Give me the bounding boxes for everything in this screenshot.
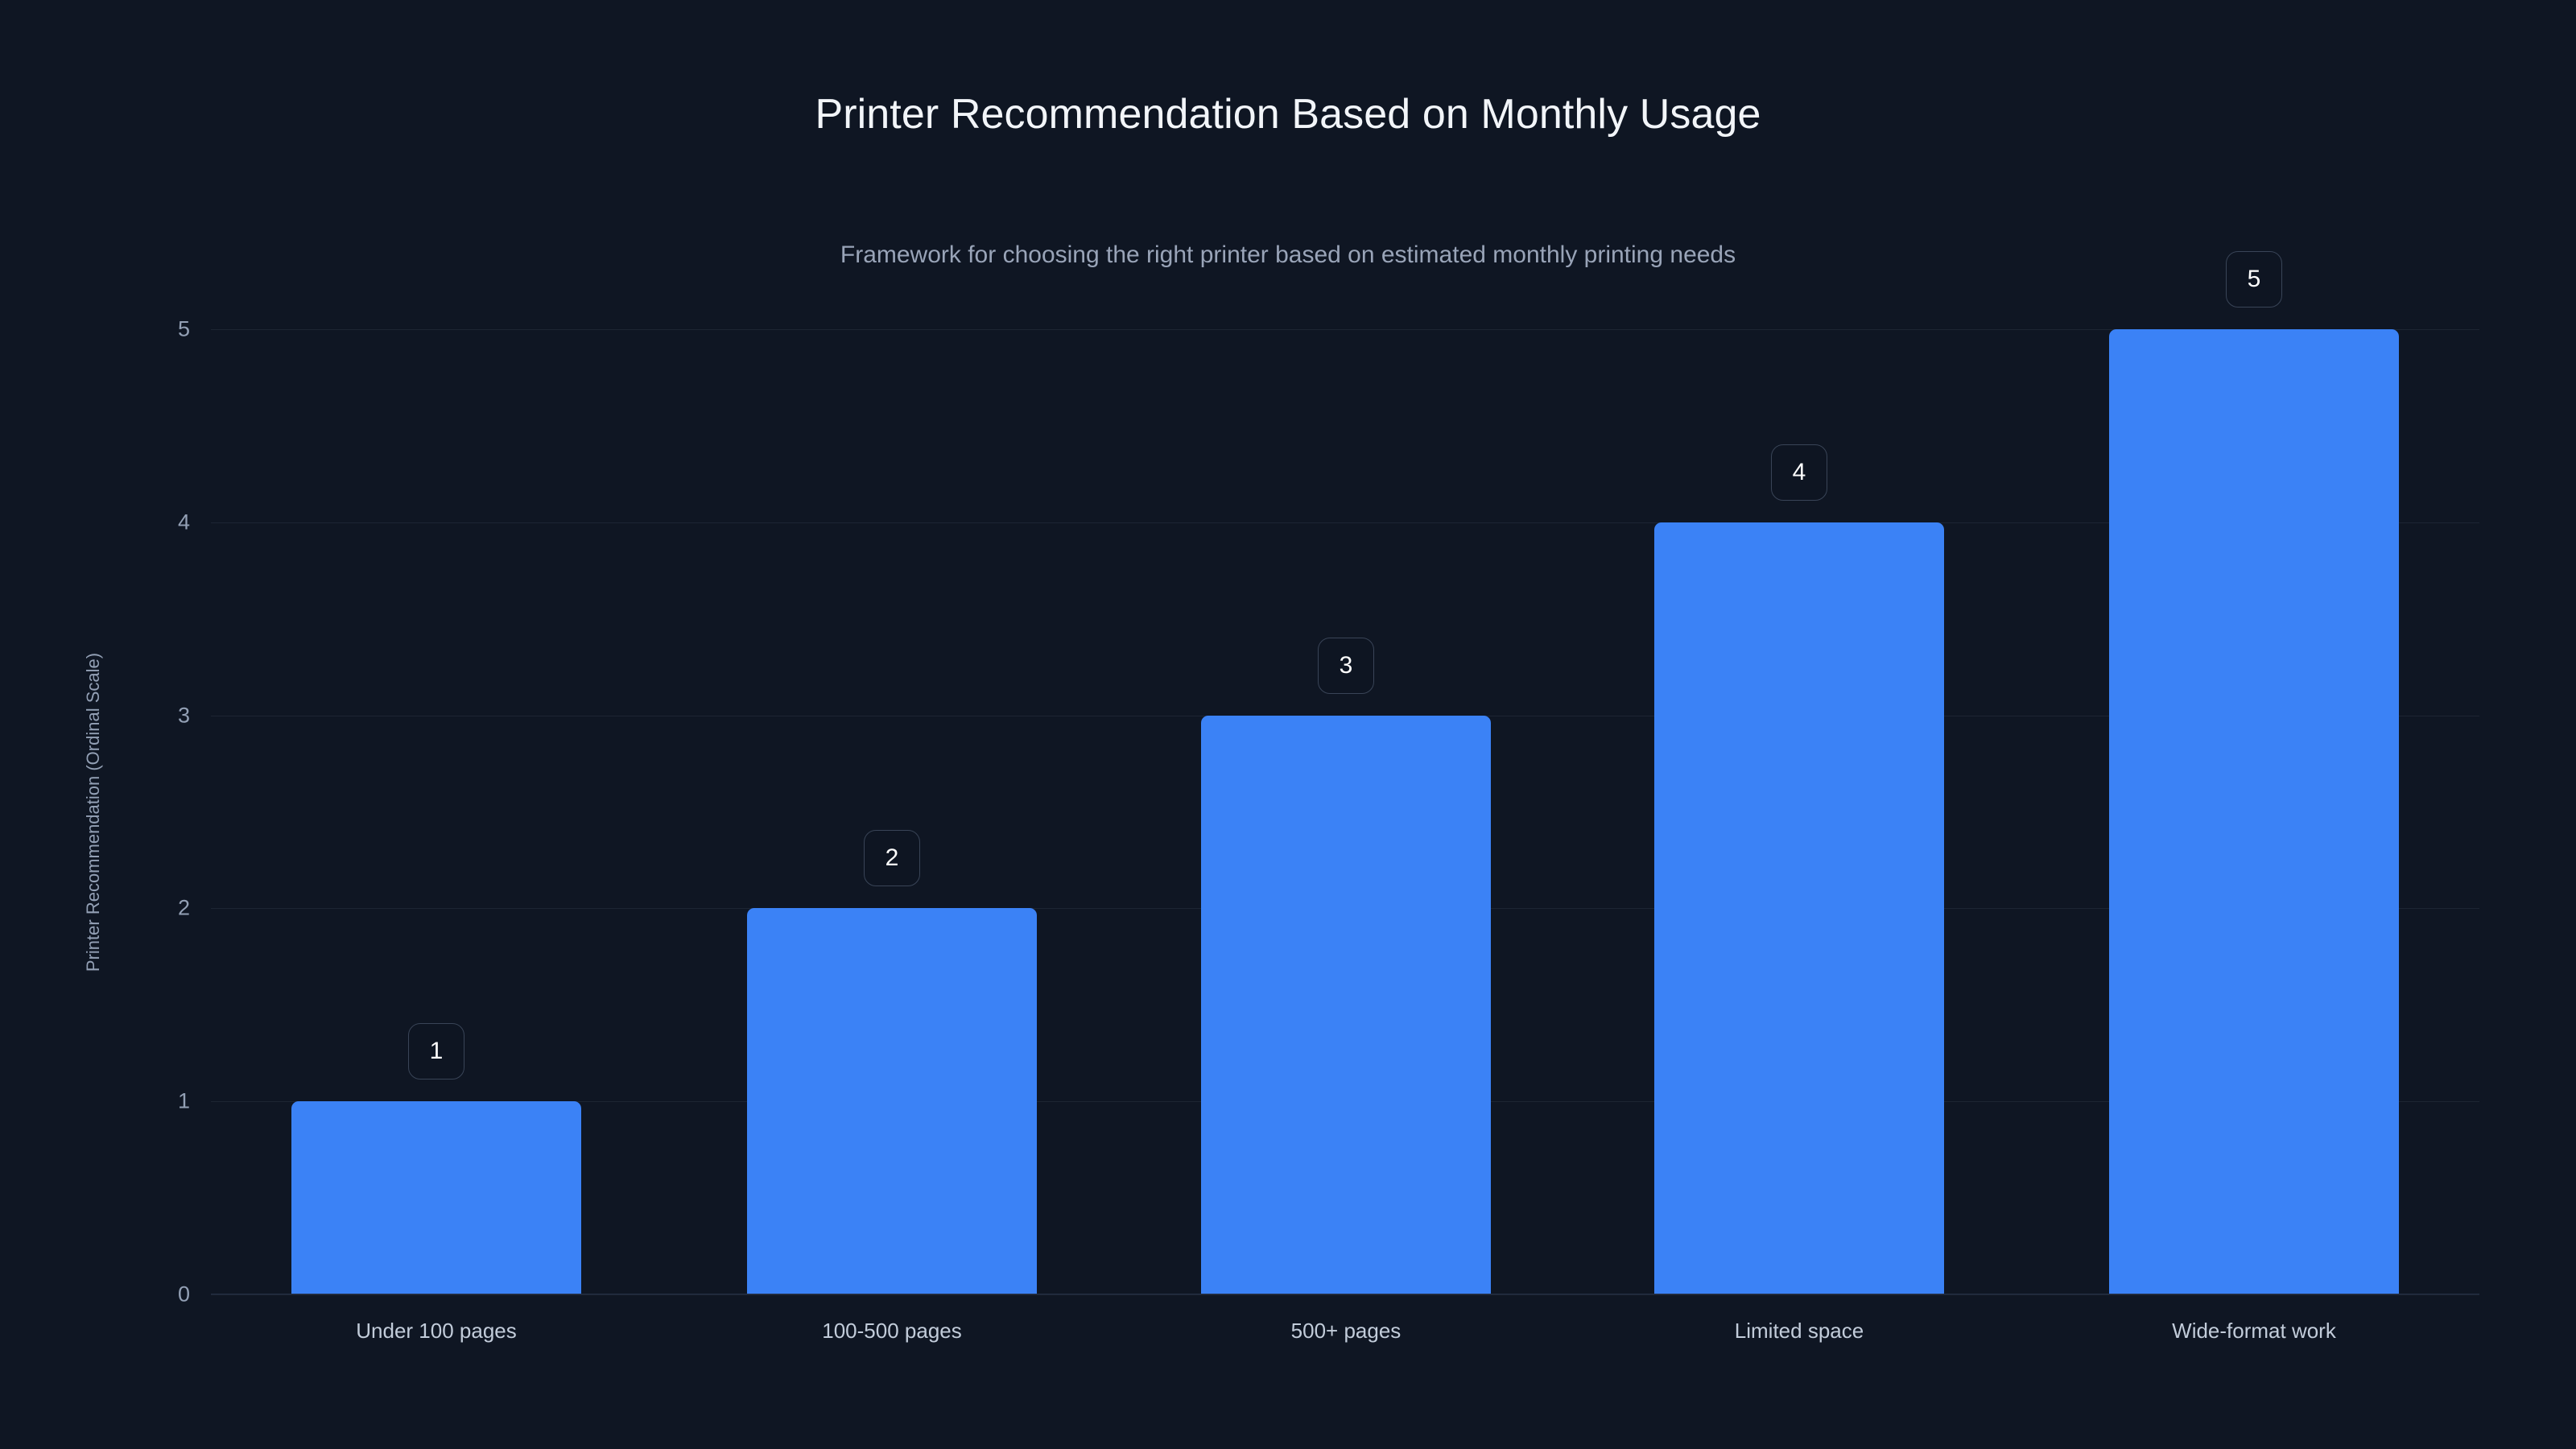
x-axis-category-label: 500+ pages xyxy=(1291,1319,1402,1344)
chart-title: Printer Recommendation Based on Monthly … xyxy=(0,90,2576,138)
x-axis-line xyxy=(211,1294,2479,1294)
bar-value-badge: 5 xyxy=(2226,251,2282,308)
bar[interactable] xyxy=(1201,716,1491,1294)
y-axis-tick-label: 2 xyxy=(134,896,190,921)
x-axis-category-label: Under 100 pages xyxy=(356,1319,516,1344)
bar-value-badge: 3 xyxy=(1318,638,1374,694)
y-axis-title: Printer Recommendation (Ordinal Scale) xyxy=(77,329,109,1294)
y-axis-tick-label: 0 xyxy=(134,1282,190,1307)
bar[interactable] xyxy=(1654,522,1944,1294)
bar[interactable] xyxy=(747,908,1037,1294)
bar-value-badge: 4 xyxy=(1771,444,1827,501)
x-axis-category-label: Limited space xyxy=(1735,1319,1864,1344)
chart-subtitle: Framework for choosing the right printer… xyxy=(0,242,2576,269)
y-axis-tick-label: 4 xyxy=(134,510,190,535)
bar[interactable] xyxy=(291,1101,581,1294)
bar-value-badge: 2 xyxy=(864,830,920,886)
gridline xyxy=(211,1294,2479,1295)
bar[interactable] xyxy=(2109,329,2399,1294)
x-axis-category-label: 100-500 pages xyxy=(822,1319,961,1344)
bar-value-badge: 1 xyxy=(408,1023,464,1080)
y-axis-tick-label: 3 xyxy=(134,703,190,728)
chart-canvas: Printer Recommendation Based on Monthly … xyxy=(0,0,2576,1449)
y-axis-tick-label: 5 xyxy=(134,317,190,342)
y-axis-tick-label: 1 xyxy=(134,1089,190,1114)
y-axis-title-text: Printer Recommendation (Ordinal Scale) xyxy=(83,652,104,971)
x-axis-category-label: Wide-format work xyxy=(2172,1319,2336,1344)
plot-area xyxy=(211,329,2479,1294)
